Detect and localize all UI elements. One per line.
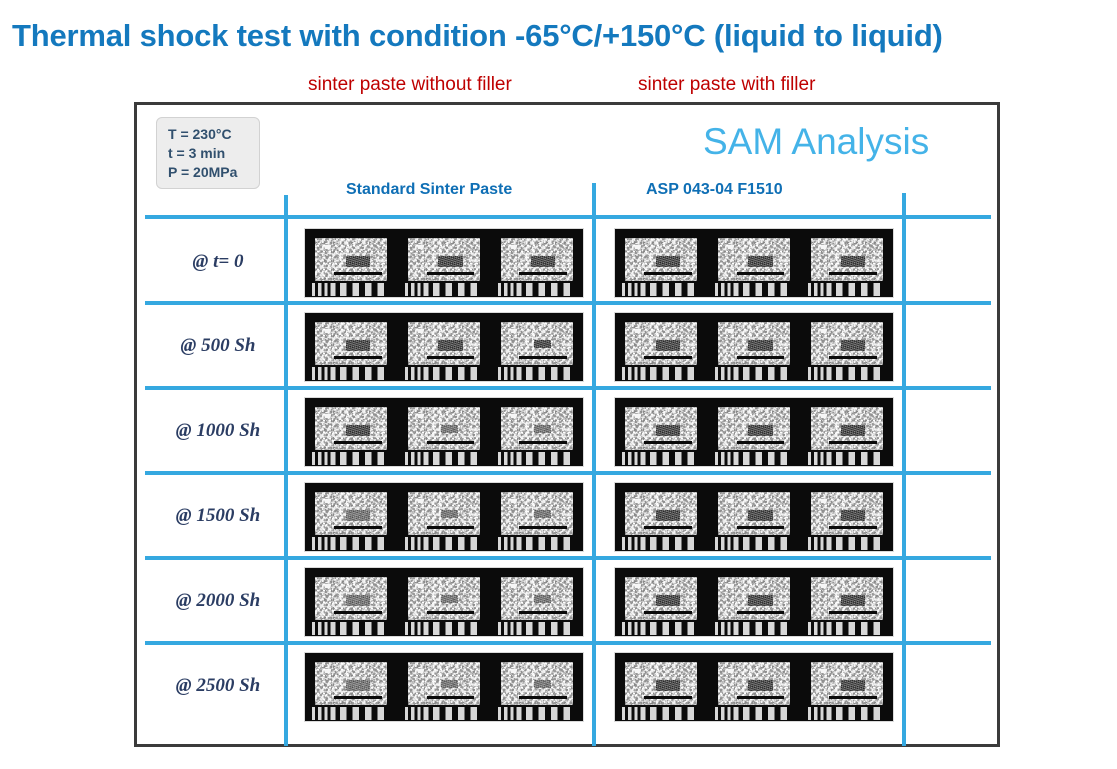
- sam-sample-image: [800, 229, 893, 297]
- sam-sample-image: [490, 653, 583, 721]
- sam-sample-image: [800, 568, 893, 636]
- sam-strip-asp-2000sh: [615, 568, 893, 636]
- sam-sample-image: [490, 398, 583, 466]
- sam-strip-standard-500sh: [305, 313, 583, 381]
- sam-sample-image: [305, 483, 398, 551]
- sam-sample-image: [708, 653, 801, 721]
- sam-strip-asp-500sh: [615, 313, 893, 381]
- sam-sample-image: [398, 483, 491, 551]
- caption-sinter-paste-without-filler: sinter paste without filler: [308, 74, 512, 96]
- sam-strip-asp-1000sh: [615, 398, 893, 466]
- sam-sample-image: [398, 229, 491, 297]
- sam-analysis-panel: T = 230°C t = 3 min P = 20MPa SAM Analys…: [134, 102, 1000, 747]
- sam-strip-standard-2500sh: [305, 653, 583, 721]
- grid-hline-row-4: [145, 556, 991, 560]
- parameter-temperature: T = 230°C: [168, 125, 259, 144]
- sam-sample-image: [708, 229, 801, 297]
- row-label-1000sh: @ 1000 Sh: [151, 420, 285, 442]
- sam-sample-image: [615, 398, 708, 466]
- sam-sample-image: [615, 653, 708, 721]
- caption-sinter-paste-with-filler: sinter paste with filler: [638, 74, 815, 96]
- row-label-2000sh: @ 2000 Sh: [151, 590, 285, 612]
- sam-sample-image: [305, 398, 398, 466]
- sam-sample-image: [615, 313, 708, 381]
- grid-hline-row-3: [145, 471, 991, 475]
- sam-sample-image: [800, 483, 893, 551]
- sam-sample-image: [398, 568, 491, 636]
- sam-strip-standard-2000sh: [305, 568, 583, 636]
- sam-sample-image: [398, 398, 491, 466]
- column-header-asp-043-04-f1510: ASP 043-04 F1510: [646, 181, 783, 199]
- row-label-t0: @ t= 0: [151, 251, 285, 273]
- sam-analysis-heading: SAM Analysis: [703, 121, 929, 163]
- grid-hline-row-2: [145, 386, 991, 390]
- sam-sample-image: [708, 483, 801, 551]
- grid-hline-row-5: [145, 641, 991, 645]
- grid-hline-header: [145, 215, 991, 219]
- sam-sample-image: [305, 313, 398, 381]
- sam-sample-image: [490, 568, 583, 636]
- grid-hline-row-1: [145, 301, 991, 305]
- parameter-time: t = 3 min: [168, 144, 259, 163]
- sam-sample-image: [305, 653, 398, 721]
- sam-sample-image: [490, 229, 583, 297]
- sam-sample-image: [800, 313, 893, 381]
- grid-vline-right-edge: [902, 193, 906, 746]
- sam-sample-image: [305, 229, 398, 297]
- sam-strip-standard-1000sh: [305, 398, 583, 466]
- sam-sample-image: [708, 398, 801, 466]
- sam-strip-asp-1500sh: [615, 483, 893, 551]
- page-title: Thermal shock test with condition -65°C/…: [12, 18, 1112, 54]
- sam-sample-image: [490, 313, 583, 381]
- parameter-pressure: P = 20MPa: [168, 163, 259, 182]
- sam-sample-image: [615, 483, 708, 551]
- sam-sample-image: [800, 398, 893, 466]
- sam-sample-image: [490, 483, 583, 551]
- column-header-standard-sinter-paste: Standard Sinter Paste: [346, 181, 512, 199]
- sam-sample-image: [615, 229, 708, 297]
- sam-sample-image: [708, 568, 801, 636]
- grid-vline-column-divider: [592, 183, 596, 746]
- sam-sample-image: [708, 313, 801, 381]
- sam-strip-asp-2500sh: [615, 653, 893, 721]
- row-label-2500sh: @ 2500 Sh: [151, 675, 285, 697]
- sam-sample-image: [398, 653, 491, 721]
- row-label-1500sh: @ 1500 Sh: [151, 505, 285, 527]
- sam-strip-standard-1500sh: [305, 483, 583, 551]
- sam-sample-image: [305, 568, 398, 636]
- sam-sample-image: [615, 568, 708, 636]
- sam-sample-image: [800, 653, 893, 721]
- sam-strip-standard-t0: [305, 229, 583, 297]
- sam-strip-asp-t0: [615, 229, 893, 297]
- row-label-500sh: @ 500 Sh: [151, 335, 285, 357]
- process-parameters-box: T = 230°C t = 3 min P = 20MPa: [156, 117, 260, 189]
- sam-sample-image: [398, 313, 491, 381]
